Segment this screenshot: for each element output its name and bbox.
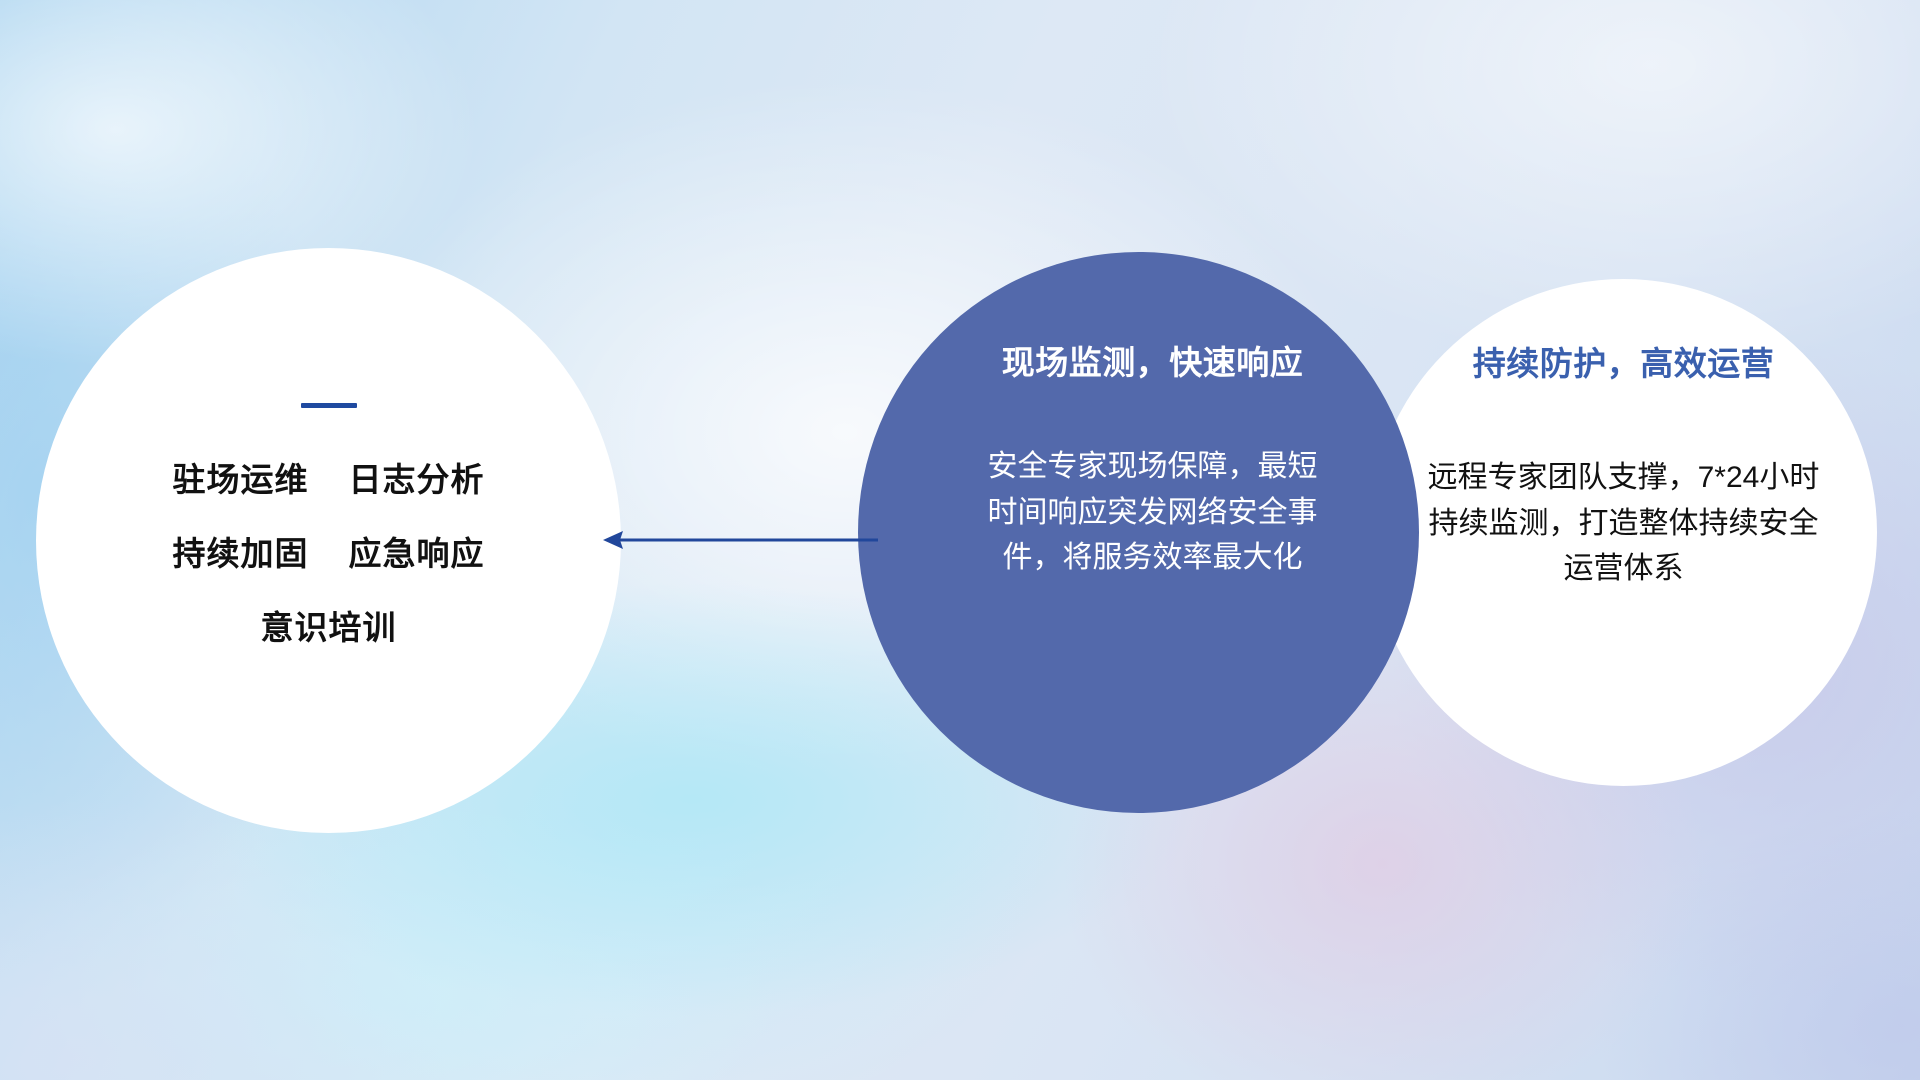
slide-canvas: 驻场运维 日志分析 持续加固 应急响应 意识培训 现场监测，快速响应 安全专家现… bbox=[0, 0, 1920, 1080]
capabilities-circle[interactable] bbox=[36, 248, 621, 833]
continuous-protection-circle[interactable] bbox=[1370, 279, 1877, 786]
flow-arrow-left-icon bbox=[595, 515, 880, 565]
onsite-monitoring-circle[interactable] bbox=[858, 252, 1419, 813]
